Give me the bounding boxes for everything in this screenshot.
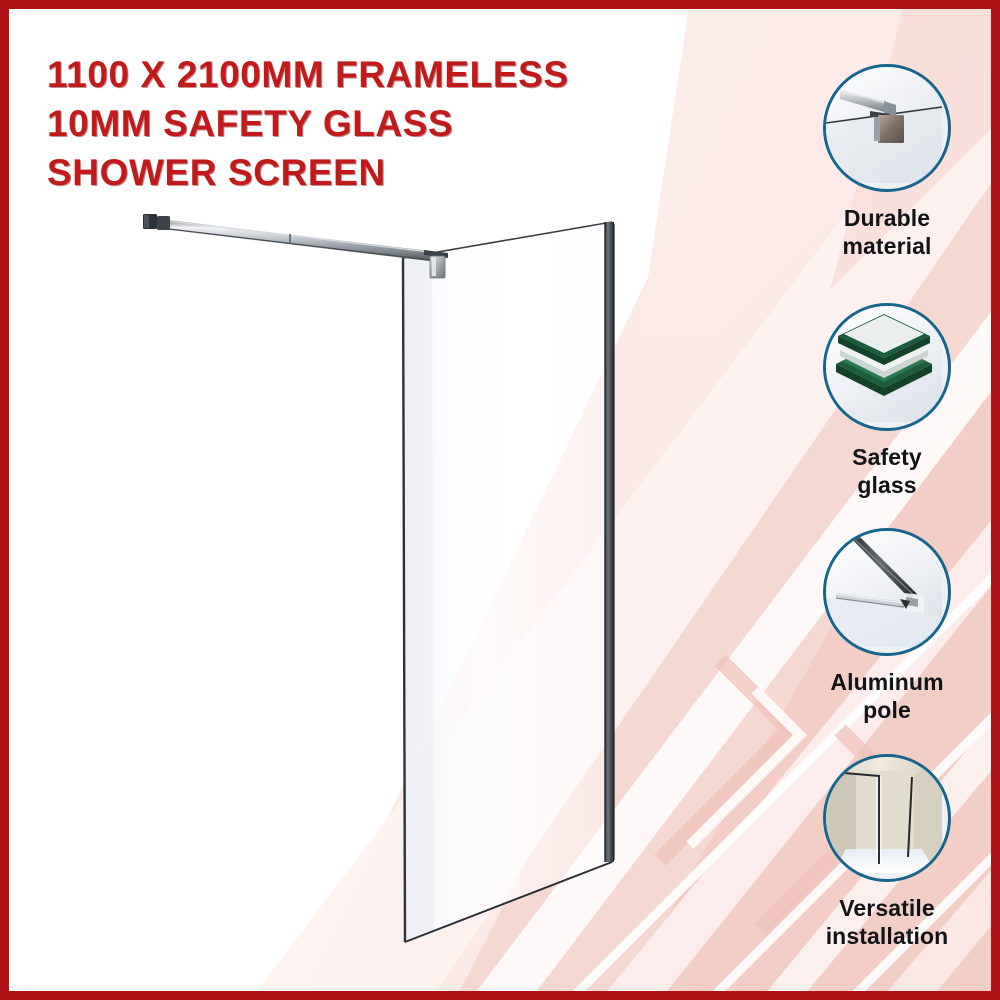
feature-versatile-installation: Versatile installation xyxy=(782,754,992,950)
feature-label-line2: pole xyxy=(782,696,992,724)
title-line-2: 10MM SAFETY GLASS xyxy=(47,99,687,148)
feature-label-line1: Aluminum xyxy=(782,668,992,696)
product-marketing-image: 1100 X 2100MM FRAMELESS 10MM SAFETY GLAS… xyxy=(0,0,1000,1000)
feature-label: Aluminum pole xyxy=(782,668,992,724)
feature-badge-list: Durable material xyxy=(782,64,992,989)
feature-label-line2: installation xyxy=(782,922,992,950)
shower-enclosure-icon xyxy=(823,754,951,882)
layered-glass-icon xyxy=(823,303,951,431)
feature-label: Versatile installation xyxy=(782,894,992,950)
bracket-clamp-icon xyxy=(823,64,951,192)
feature-label-line1: Safety xyxy=(782,443,992,471)
feature-safety-glass: Safety glass xyxy=(782,303,992,499)
feature-label-line2: glass xyxy=(782,471,992,499)
feature-aluminum-pole: Aluminum pole xyxy=(782,528,992,724)
feature-label-line1: Versatile xyxy=(782,894,992,922)
support-pole xyxy=(152,218,438,262)
feature-label: Durable material xyxy=(782,204,992,260)
page-title: 1100 X 2100MM FRAMELESS 10MM SAFETY GLAS… xyxy=(47,50,687,198)
title-line-3: SHOWER SCREEN xyxy=(47,148,687,197)
aluminum-pole-icon xyxy=(823,528,951,656)
feature-label-line1: Durable xyxy=(782,204,992,232)
glass-thickness-edge xyxy=(605,222,614,862)
title-line-1: 1100 X 2100MM FRAMELESS xyxy=(47,50,687,99)
feature-label: Safety glass xyxy=(782,443,992,499)
feature-label-line2: material xyxy=(782,232,992,260)
feature-durable-material: Durable material xyxy=(782,64,992,260)
wall-mount-bracket xyxy=(143,214,170,230)
